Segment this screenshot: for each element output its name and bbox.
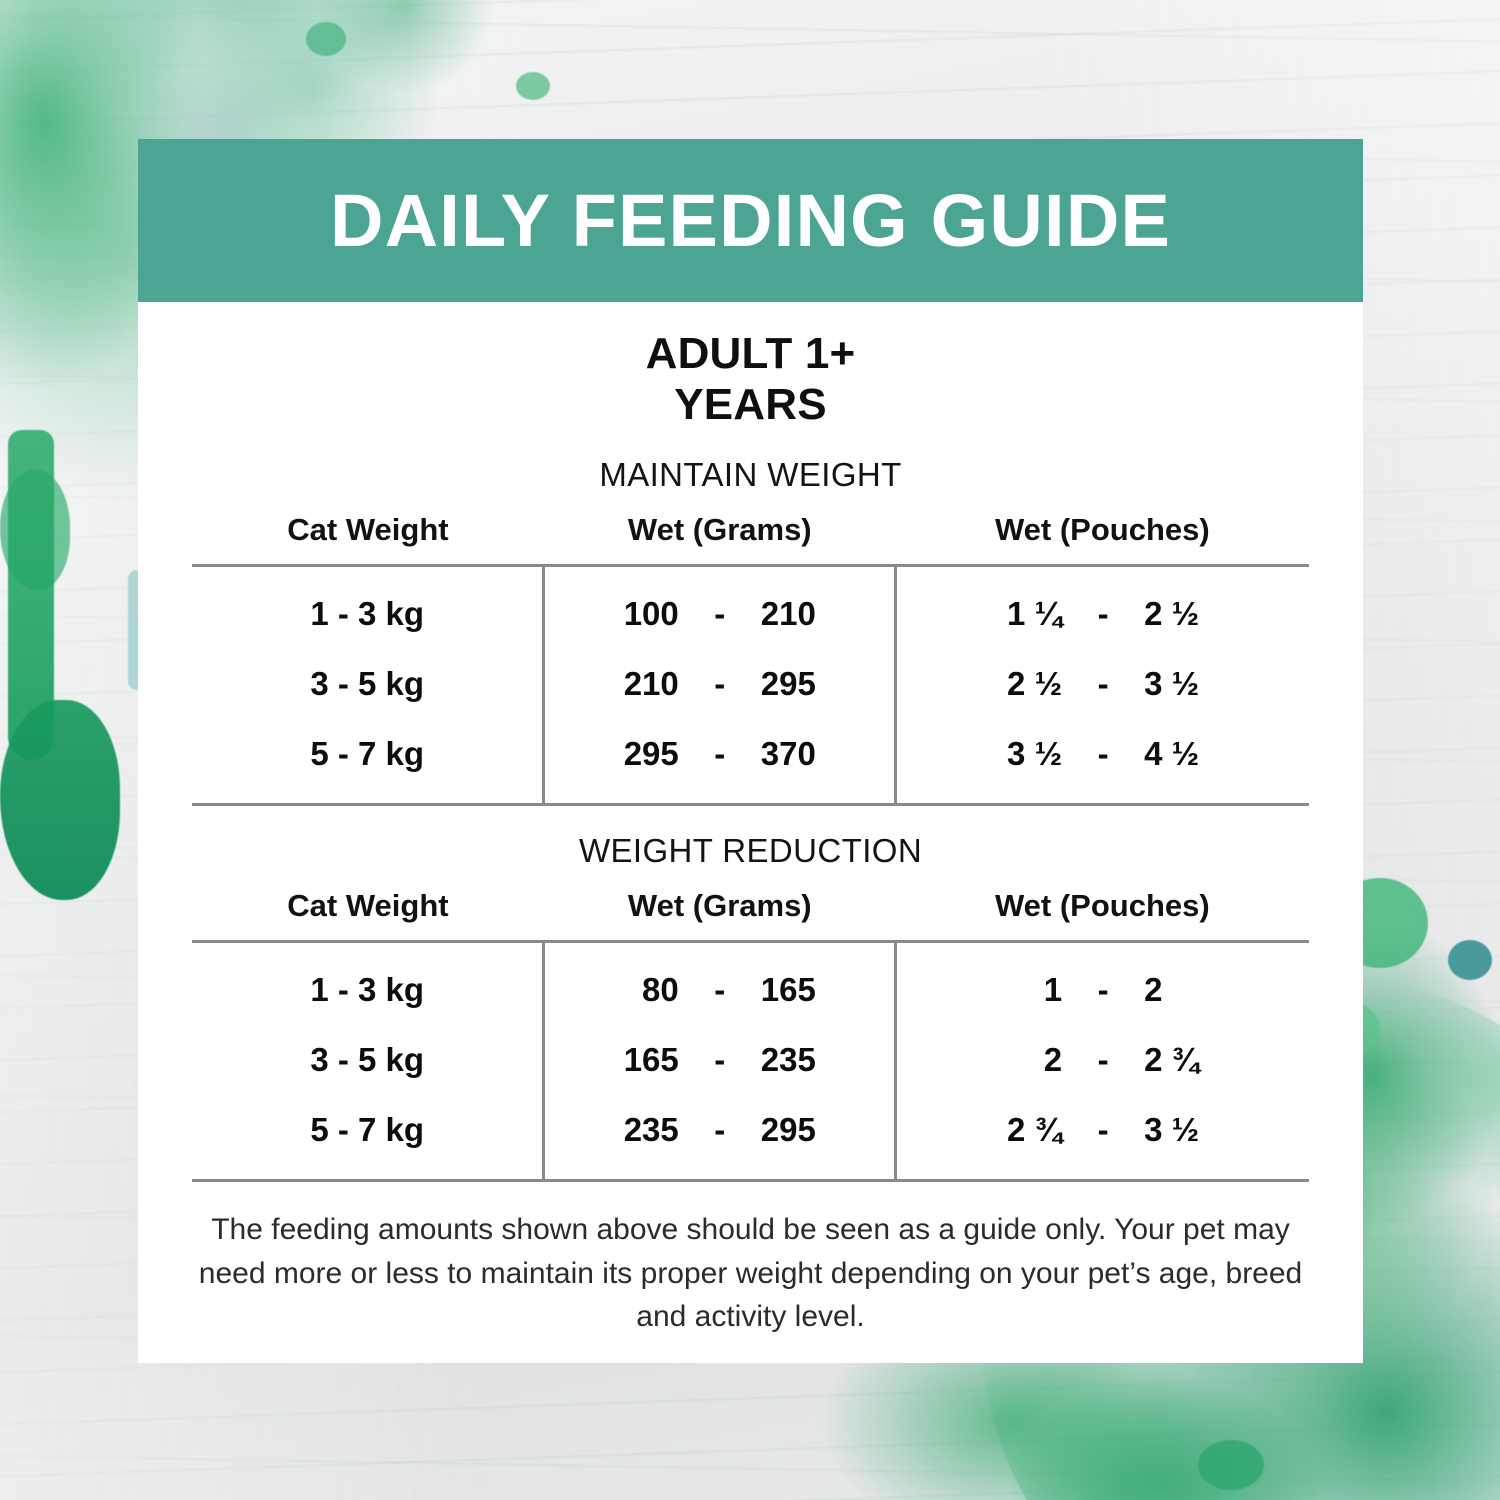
section-title-maintain-weight: MAINTAIN WEIGHT [192, 456, 1309, 494]
table-header-row: Cat Weight Wet (Grams) Wet (Pouches) [192, 498, 1309, 566]
grams-low: 210 [545, 665, 684, 703]
cell-cat-weight: 3 - 5 kg [192, 649, 544, 719]
cell-wet-grams: 165 - 235 [544, 1025, 896, 1095]
column-header-wet-grams: Wet (Grams) [544, 874, 896, 942]
grams-dash: - [685, 971, 755, 1009]
table-row: 3 - 5 kg 210 - 295 2 ½ - [192, 649, 1309, 719]
grams-dash: - [685, 665, 755, 703]
pouches-high: 3 ½ [1138, 1111, 1309, 1149]
grams-dash: - [685, 1041, 755, 1079]
cell-cat-weight: 1 - 3 kg [192, 942, 544, 1026]
grams-dash: - [685, 595, 755, 633]
column-header-cat-weight: Cat Weight [192, 498, 544, 566]
cell-wet-pouches: 2 - 2 ¾ [896, 1025, 1309, 1095]
pouches-high: 2 [1138, 971, 1309, 1009]
cell-wet-pouches: 1 - 2 [896, 942, 1309, 1026]
pouches-dash: - [1068, 665, 1138, 703]
cell-wet-grams: 235 - 295 [544, 1095, 896, 1181]
grams-high: 295 [755, 665, 894, 703]
grams-high: 165 [755, 971, 894, 1009]
section-title-weight-reduction: WEIGHT REDUCTION [192, 832, 1309, 870]
grams-dash: - [685, 735, 755, 773]
cell-wet-grams: 295 - 370 [544, 719, 896, 805]
cell-wet-grams: 80 - 165 [544, 942, 896, 1026]
pouches-low: 3 ½ [897, 735, 1068, 773]
grams-high: 370 [755, 735, 894, 773]
watercolor-dot-top-b [516, 72, 550, 100]
life-stage-label: ADULT 1+ YEARS [192, 328, 1309, 430]
pouches-dash: - [1068, 735, 1138, 773]
cell-wet-pouches: 2 ½ - 3 ½ [896, 649, 1309, 719]
pouches-dash: - [1068, 971, 1138, 1009]
watercolor-dot-top-a [306, 22, 346, 56]
grams-low: 80 [545, 971, 684, 1009]
cell-cat-weight: 5 - 7 kg [192, 1095, 544, 1181]
grams-low: 235 [545, 1111, 684, 1149]
grams-low: 165 [545, 1041, 684, 1079]
watercolor-dot-right-teal [1448, 940, 1492, 980]
feeding-disclaimer: The feeding amounts shown above should b… [198, 1208, 1303, 1339]
feeding-guide-card: DAILY FEEDING GUIDE ADULT 1+ YEARS MAINT… [138, 139, 1363, 1363]
pouches-low: 1 ¼ [897, 595, 1068, 633]
table-row: 5 - 7 kg 235 - 295 2 ¾ - [192, 1095, 1309, 1181]
table-row: 1 - 3 kg 100 - 210 1 ¼ - [192, 566, 1309, 650]
table-row: 3 - 5 kg 165 - 235 2 - [192, 1025, 1309, 1095]
cell-wet-pouches: 3 ½ - 4 ½ [896, 719, 1309, 805]
grams-dash: - [685, 1111, 755, 1149]
cell-cat-weight: 1 - 3 kg [192, 566, 544, 650]
table-row: 1 - 3 kg 80 - 165 1 - [192, 942, 1309, 1026]
grams-high: 295 [755, 1111, 894, 1149]
table-header-row: Cat Weight Wet (Grams) Wet (Pouches) [192, 874, 1309, 942]
pouches-low: 2 ½ [897, 665, 1068, 703]
pouches-dash: - [1068, 1111, 1138, 1149]
column-header-wet-grams: Wet (Grams) [544, 498, 896, 566]
watercolor-drip-left-tip [0, 700, 120, 900]
column-header-wet-pouches: Wet (Pouches) [896, 874, 1309, 942]
page-title: DAILY FEEDING GUIDE [330, 178, 1171, 263]
feeding-table-weight-reduction: Cat Weight Wet (Grams) Wet (Pouches) 1 -… [192, 874, 1309, 1182]
pouches-high: 4 ½ [1138, 735, 1309, 773]
card-header: DAILY FEEDING GUIDE [138, 139, 1363, 302]
cell-wet-grams: 210 - 295 [544, 649, 896, 719]
table-row: 5 - 7 kg 295 - 370 3 ½ - [192, 719, 1309, 805]
pouches-high: 2 ¾ [1138, 1041, 1309, 1079]
pouches-dash: - [1068, 595, 1138, 633]
life-stage-line1: ADULT 1+ [192, 328, 1309, 379]
cell-wet-pouches: 2 ¾ - 3 ½ [896, 1095, 1309, 1181]
pouches-low: 1 [897, 971, 1068, 1009]
pouches-dash: - [1068, 1041, 1138, 1079]
watercolor-dot-bottom [1198, 1440, 1264, 1490]
column-header-wet-pouches: Wet (Pouches) [896, 498, 1309, 566]
cell-wet-pouches: 1 ¼ - 2 ½ [896, 566, 1309, 650]
feeding-table-maintain-weight: Cat Weight Wet (Grams) Wet (Pouches) 1 -… [192, 498, 1309, 806]
pouches-high: 2 ½ [1138, 595, 1309, 633]
cell-wet-grams: 100 - 210 [544, 566, 896, 650]
pouches-high: 3 ½ [1138, 665, 1309, 703]
pouches-low: 2 [897, 1041, 1068, 1079]
grams-low: 100 [545, 595, 684, 633]
life-stage-line2: YEARS [192, 379, 1309, 430]
column-header-cat-weight: Cat Weight [192, 874, 544, 942]
feeding-guide-graphic: DAILY FEEDING GUIDE ADULT 1+ YEARS MAINT… [0, 0, 1500, 1500]
cell-cat-weight: 3 - 5 kg [192, 1025, 544, 1095]
cell-cat-weight: 5 - 7 kg [192, 719, 544, 805]
pouches-low: 2 ¾ [897, 1111, 1068, 1149]
card-body: ADULT 1+ YEARS MAINTAIN WEIGHT Cat Weigh… [138, 328, 1363, 1339]
grams-low: 295 [545, 735, 684, 773]
grams-high: 210 [755, 595, 894, 633]
grams-high: 235 [755, 1041, 894, 1079]
